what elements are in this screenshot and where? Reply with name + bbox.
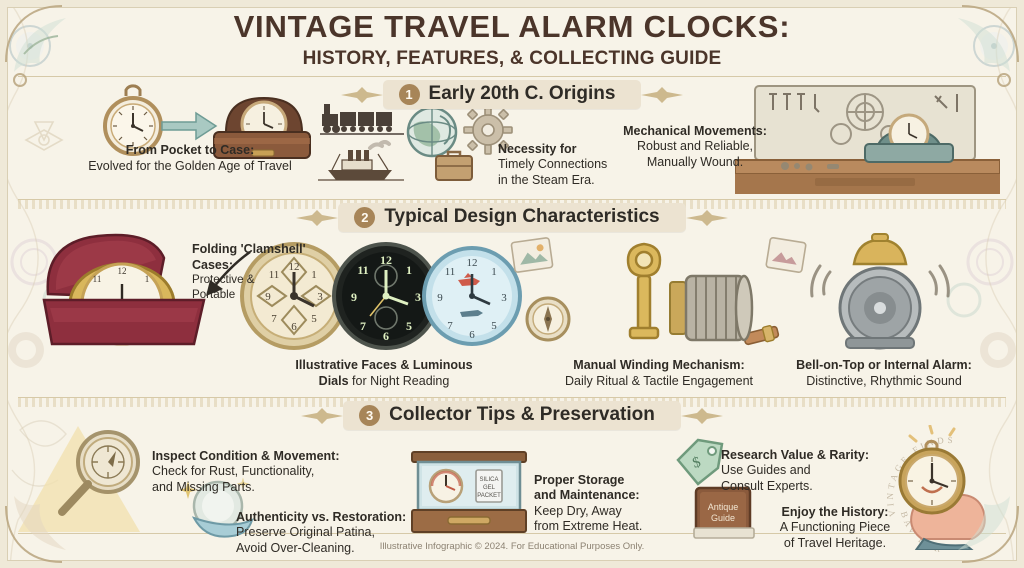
label-proper-storage: Proper Storage and Maintenance:Keep Dry,… xyxy=(534,457,664,535)
label-illustrative-faces: Illustrative Faces & Luminous Dials for … xyxy=(275,358,493,389)
svg-text:6: 6 xyxy=(383,329,389,343)
label-body: Daily Ritual & Tactile Engagement xyxy=(565,374,753,388)
label-title: Necessity for xyxy=(498,142,577,156)
aviation-themed-dial-icon: 12369 15711 xyxy=(420,244,524,348)
label-title: Enjoy the History: xyxy=(782,505,889,519)
photo-sticker-icon xyxy=(765,236,807,274)
svg-text:1: 1 xyxy=(491,266,497,278)
label-title: From Pocket to Case: xyxy=(126,143,255,157)
label-research-value: Research Value & Rarity:Use Guides and C… xyxy=(721,432,901,494)
footer-note: Illustrative Infographic © 2024. For Edu… xyxy=(0,541,1024,552)
svg-text:1: 1 xyxy=(145,274,150,284)
label-clamshell-cases: Folding 'Clamshell' Cases:Protective & P… xyxy=(192,228,342,302)
svg-text:11: 11 xyxy=(93,274,102,284)
label-body: Evolved for the Golden Age of Travel xyxy=(88,159,292,173)
winding-key-and-barrel-icon xyxy=(586,232,766,360)
svg-text:5: 5 xyxy=(311,313,317,325)
label-title: Illustrative Faces & Luminous xyxy=(295,358,472,372)
svg-text:1: 1 xyxy=(406,263,412,277)
section-pill-2: 2 Typical Design Characteristics xyxy=(338,203,685,232)
price-tag-icon: $ xyxy=(672,434,728,486)
page-title: VINTAGE TRAVEL ALARM CLOCKS: HISTORY, FE… xyxy=(0,10,1024,70)
infographic-page: VINTAGE TRAVEL ALARM CLOCKS: HISTORY, FE… xyxy=(0,0,1024,568)
steam-ship-icon xyxy=(318,140,404,184)
label-bell-on-top: Bell-on-Top or Internal Alarm: Distincti… xyxy=(775,358,993,389)
svg-text:12: 12 xyxy=(380,253,392,267)
label-body: Timely Connections in the Steam Era. xyxy=(498,157,607,187)
svg-text:7: 7 xyxy=(271,313,277,325)
label-title: Bell-on-Top or Internal Alarm: xyxy=(796,358,972,372)
svg-text:6: 6 xyxy=(291,321,297,333)
corner-flourish-icon xyxy=(2,2,110,110)
svg-text:12: 12 xyxy=(118,266,127,276)
book-title-line2: Guide xyxy=(711,513,735,523)
label-title: Authenticity vs. Restoration: xyxy=(236,510,406,524)
silica-packet-line3: PACKET xyxy=(477,493,501,499)
book-title-line1: Antique xyxy=(708,502,739,512)
label-title: Manual Winding Mechanism: xyxy=(573,358,744,372)
compass-icon xyxy=(524,295,572,343)
svg-text:9: 9 xyxy=(437,292,443,304)
label-pocket-to-case: From Pocket to Case: Evolved for the Gol… xyxy=(60,143,320,174)
label-inspect-condition: Inspect Condition & Movement:Check for R… xyxy=(152,433,362,495)
svg-text:3: 3 xyxy=(501,292,507,304)
diamond-flourish-icon xyxy=(641,87,683,103)
section-pill-1: 1 Early 20th C. Origins xyxy=(383,80,642,109)
svg-text:11: 11 xyxy=(357,263,368,277)
svg-text:5: 5 xyxy=(406,319,412,333)
label-body: Robust and Reliable, Manually Wound. xyxy=(637,139,753,169)
silica-packet-line2: GEL xyxy=(483,485,496,491)
section-number-badge: 3 xyxy=(359,405,380,426)
svg-text:9: 9 xyxy=(351,290,357,304)
diamond-flourish-icon xyxy=(341,87,383,103)
sub-title: HISTORY, FEATURES, & COLLECTING GUIDE xyxy=(0,48,1024,70)
divider-section-1 xyxy=(18,76,1006,77)
section-heading: Typical Design Characteristics xyxy=(384,206,659,228)
svg-text:12: 12 xyxy=(467,257,478,269)
svg-text:11: 11 xyxy=(445,266,456,278)
svg-text:7: 7 xyxy=(360,319,366,333)
svg-text:5: 5 xyxy=(491,320,497,332)
label-body: Keep Dry, Away from Extreme Heat. xyxy=(534,504,642,534)
svg-text:6: 6 xyxy=(469,329,475,341)
diamond-flourish-icon xyxy=(681,408,723,424)
section-header-1: 1 Early 20th C. Origins xyxy=(0,80,1024,109)
section-heading: Early 20th C. Origins xyxy=(429,83,616,105)
label-mechanical-movements: Mechanical Movements:Robust and Reliable… xyxy=(600,108,790,170)
corner-flourish-icon xyxy=(2,458,110,566)
label-title: Mechanical Movements: xyxy=(623,124,767,138)
corner-flourish-icon xyxy=(914,458,1022,566)
section-heading: Collector Tips & Preservation xyxy=(389,404,655,426)
open-clamshell-case-icon: 1213 567 911 xyxy=(30,228,210,353)
bell-top-alarm-clock-icon xyxy=(810,228,950,356)
label-body: for Night Reading xyxy=(352,374,449,388)
corner-flourish-icon xyxy=(914,2,1022,110)
section-header-2: 2 Typical Design Characteristics xyxy=(0,203,1024,232)
section-number-badge: 1 xyxy=(399,84,420,105)
label-body: Distinctive, Rhythmic Sound xyxy=(806,374,962,388)
label-manual-winding: Manual Winding Mechanism: Daily Ritual &… xyxy=(553,358,765,389)
diamond-flourish-icon xyxy=(296,210,338,226)
svg-text:7: 7 xyxy=(447,320,453,332)
label-title: Folding 'Clamshell' Cases: xyxy=(192,242,306,272)
main-title: VINTAGE TRAVEL ALARM CLOCKS: xyxy=(0,10,1024,44)
label-title: Research Value & Rarity: xyxy=(721,448,869,462)
section-header-3: 3 Collector Tips & Preservation xyxy=(0,401,1024,430)
label-body: Check for Rust, Functionality, and Missi… xyxy=(152,464,314,494)
landscape-sticker-icon xyxy=(510,236,554,274)
label-body: Protective & Portable xyxy=(192,273,255,300)
diamond-flourish-icon xyxy=(686,210,728,226)
label-title: Proper Storage and Maintenance: xyxy=(534,473,640,503)
label-title: Inspect Condition & Movement: xyxy=(152,449,340,463)
section-number-badge: 2 xyxy=(354,207,375,228)
label-title-2: Dials xyxy=(319,374,349,388)
diamond-flourish-icon xyxy=(301,408,343,424)
section-pill-3: 3 Collector Tips & Preservation xyxy=(343,401,681,430)
silica-packet-line1: SILICA xyxy=(479,477,498,483)
